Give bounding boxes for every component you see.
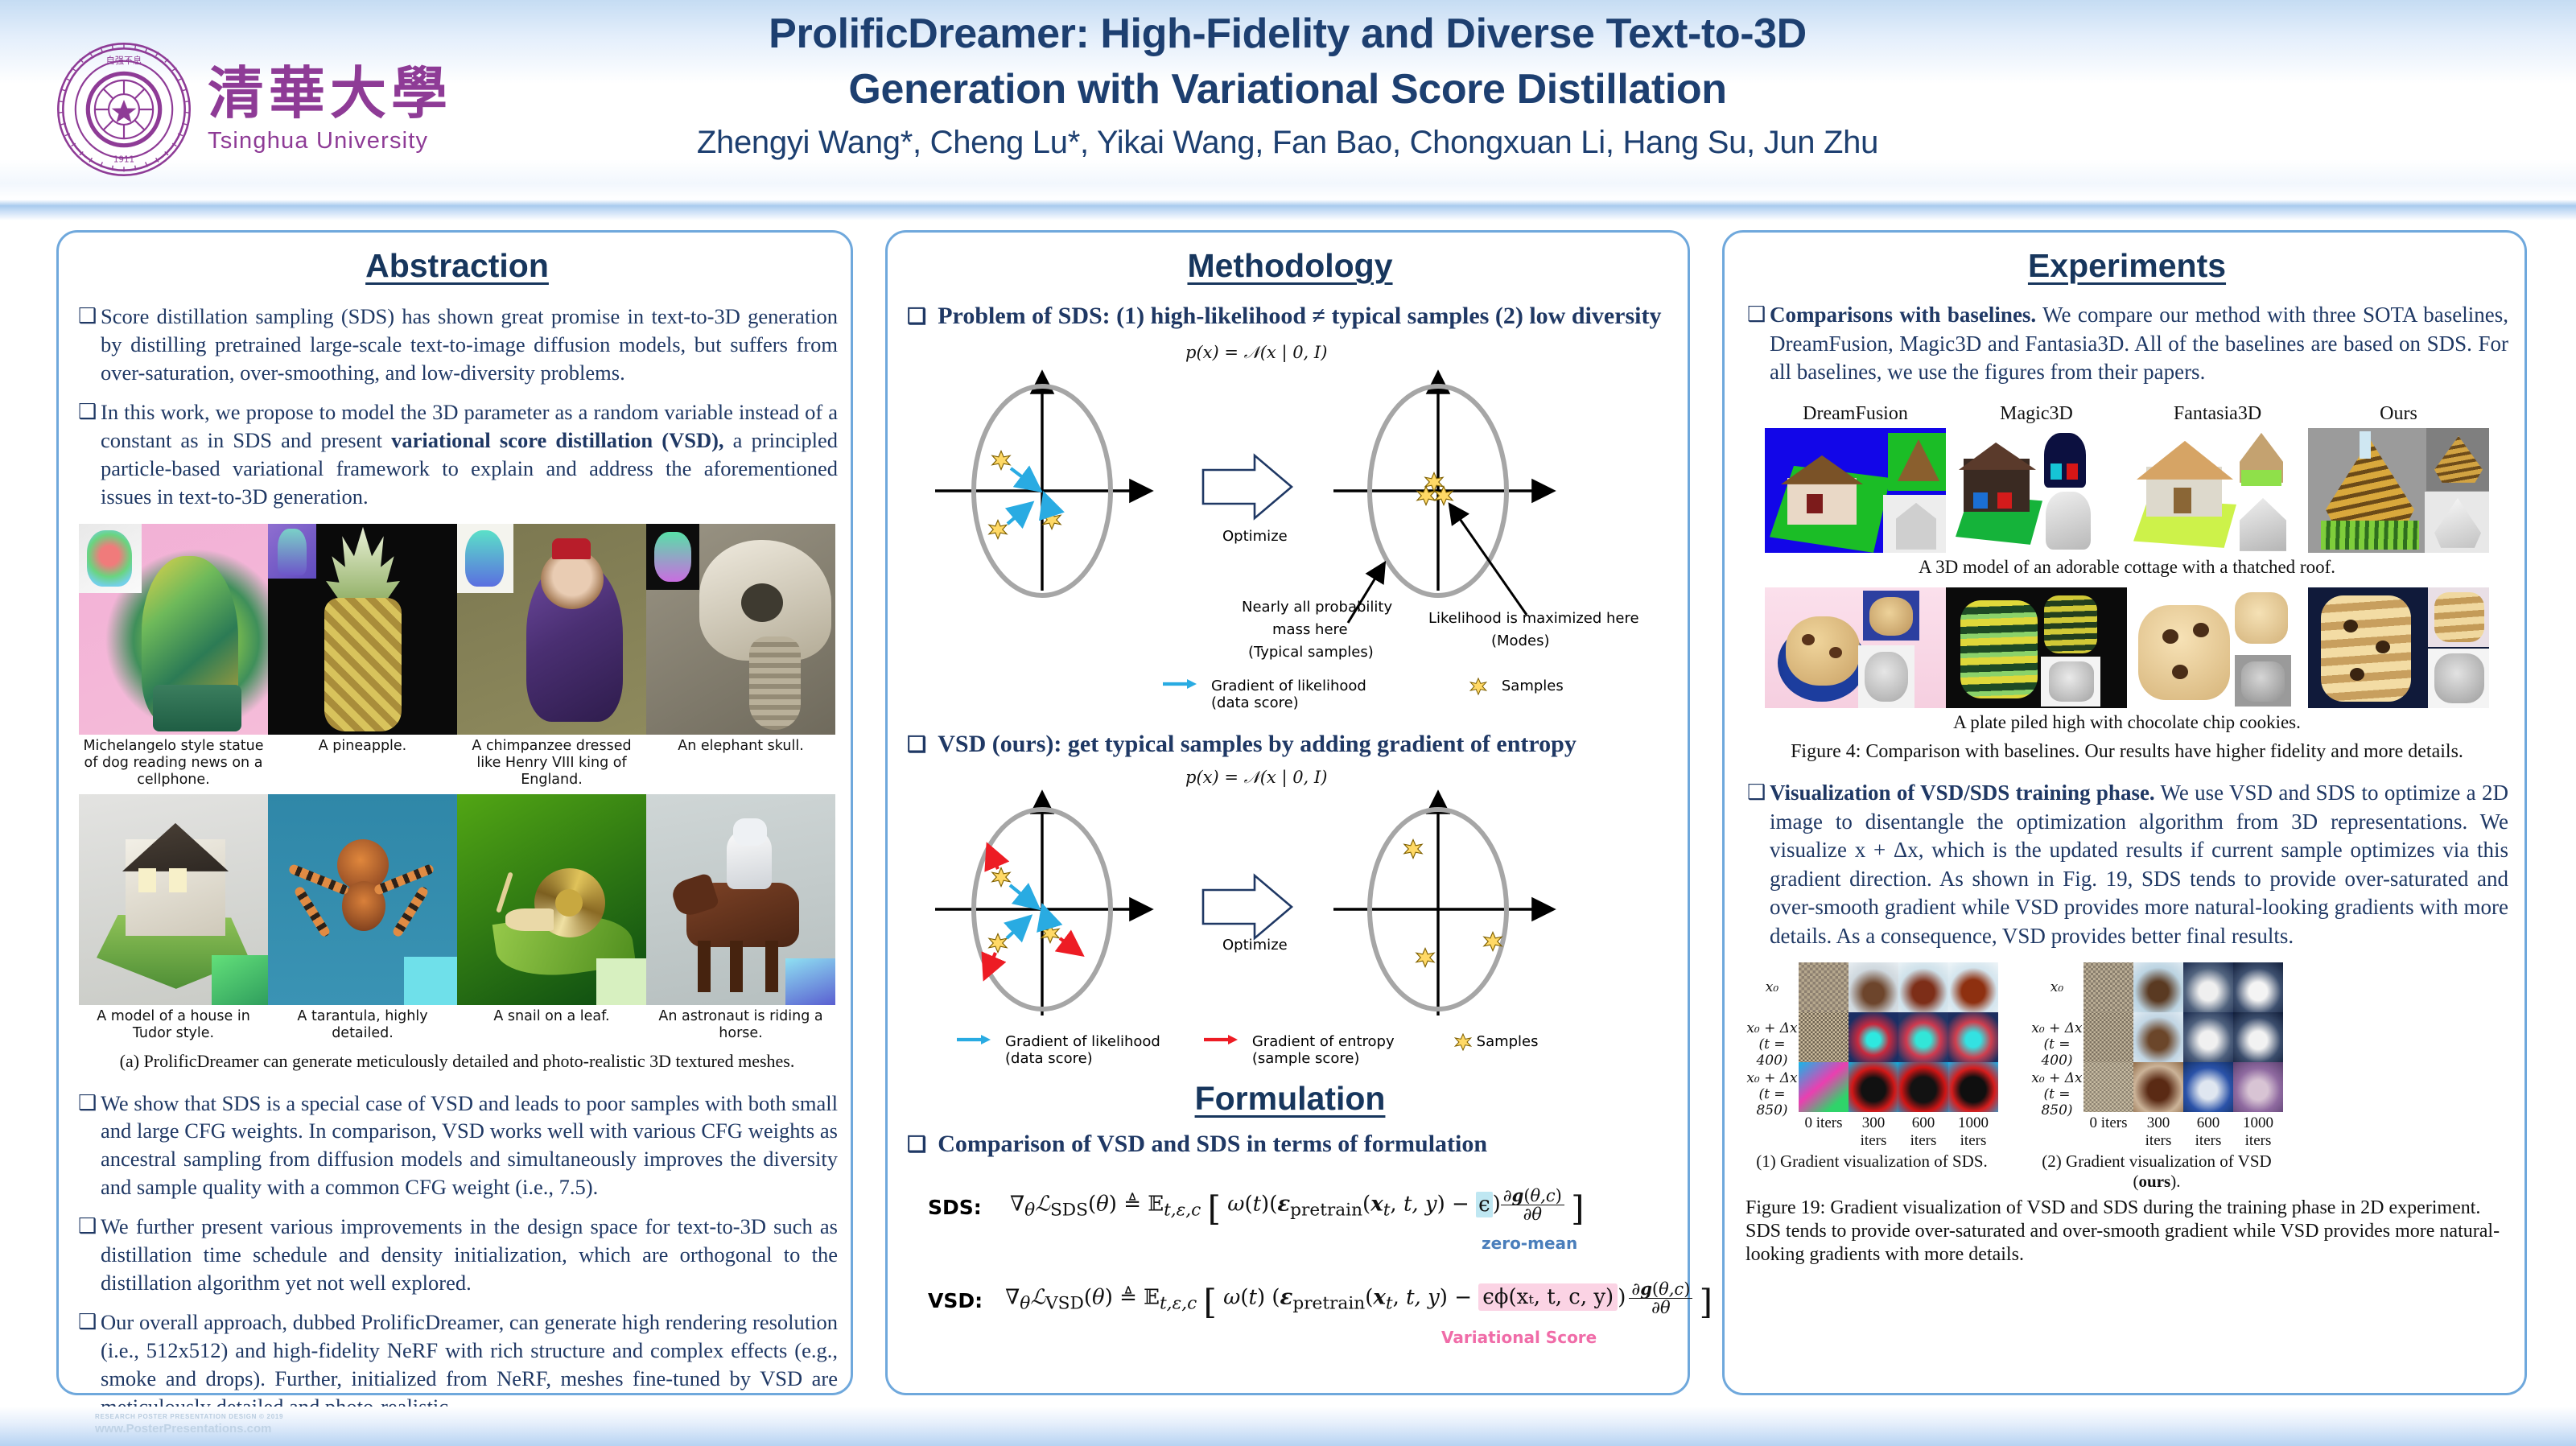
vsd-equation: ∇θℒVSD(θ) ≜ 𝔼t,ε,c [ ω(t) (εpretrain(xt,… <box>1005 1280 1713 1322</box>
gallery-caption: Michelangelo style statue of dog reading… <box>79 735 268 794</box>
gallery-caption: A snail on a leaf. <box>457 1005 646 1048</box>
formulation-heading-text: Comparison of VSD and SDS in terms of fo… <box>938 1131 1487 1158</box>
tsinghua-logo: 自强不息 1911 清華大學 Tsinghua University <box>55 29 473 190</box>
formulation-title: Formulation <box>907 1080 1673 1118</box>
figure-4-caption: Figure 4: Comparison with baselines. Our… <box>1745 741 2508 763</box>
cottage-caption: A 3D model of an adorable cottage with a… <box>1745 557 2508 578</box>
bullet-square-icon <box>76 303 101 387</box>
methodology-panel: Methodology ❑ Problem of SDS: (1) high-l… <box>885 230 1690 1395</box>
gallery-image-chimpanzee <box>457 524 646 735</box>
abstraction-bullet-4: We further present various improvements … <box>76 1213 838 1297</box>
bullet-square-icon: ❑ <box>907 732 926 757</box>
sds-annot-modes-1: Likelihood is maximized here <box>1428 610 1639 627</box>
gallery-caption: An elephant skull. <box>646 735 835 794</box>
footer-credit-line-1: RESEARCH POSTER PRESENTATION DESIGN © 20… <box>95 1413 283 1420</box>
poster-authors: Zhengyi Wang*, Cheng Lu*, Yikai Wang, Fa… <box>563 125 2012 161</box>
bullet-square-icon <box>76 1090 101 1202</box>
legend-likelihood-label: Gradient of likelihood (data score) <box>1005 1033 1160 1067</box>
legend-likelihood-arrow-icon <box>1161 678 1197 690</box>
fig19-sds-iter-0: 0 iters <box>1799 1114 1849 1150</box>
mesh-gallery: Michelangelo style statue of dog reading… <box>79 524 835 1072</box>
cookies-magic3d <box>1946 587 2127 708</box>
fig19-subcaption-vsd: (2) Gradient visualization of VSD (ours)… <box>2030 1151 2283 1192</box>
sds-annot-typical-1: Nearly all probability <box>1242 599 1392 616</box>
gallery-image-tarantula <box>268 794 457 1005</box>
baseline-column-ours: Ours <box>2308 403 2489 425</box>
poster-title-line-1: ProlificDreamer: High-Fidelity and Diver… <box>563 6 2012 62</box>
fig19-row-label-t400: x₀ + Δx (t = 400) <box>2030 1012 2083 1062</box>
sds-equation-note: zero-mean <box>1482 1234 1673 1253</box>
abstraction-bullet-2-text: In this work, we propose to model the 3D… <box>101 398 838 511</box>
fig19-row-label-x0: x₀ <box>1745 962 1799 1012</box>
abstraction-title: Abstraction <box>76 247 838 285</box>
tsinghua-seal-icon: 自强不息 1911 <box>55 40 193 179</box>
gallery-image-elephant-skull <box>646 524 835 735</box>
poster-footer <box>0 1407 2576 1446</box>
experiments-bullet-2-bold: Visualization of VSD/SDS training phase. <box>1770 781 2155 805</box>
abstraction-bullet-3-text: We show that SDS is a special case of VS… <box>101 1090 838 1202</box>
gallery-image-astronaut-horse <box>646 794 835 1005</box>
fig19-vsd-iter-600: 600 iters <box>2183 1114 2233 1150</box>
poster-title-line-2: Generation with Variational Score Distil… <box>563 62 2012 117</box>
sds-optimize-label: Optimize <box>1222 528 1288 545</box>
baseline-column-dreamfusion: DreamFusion <box>1765 403 1946 425</box>
methodology-vsd-heading-text: VSD (ours): get typical samples by addin… <box>938 731 1577 758</box>
abstraction-bullet-3: We show that SDS is a special case of VS… <box>76 1090 838 1202</box>
gallery-image-pineapple <box>268 524 457 735</box>
vsd-equation-note: Variational Score <box>1441 1328 1673 1347</box>
sds-diagram: p(x) = 𝒩(x | 0, I) <box>907 330 1671 668</box>
sds-equation-tag: SDS: <box>928 1196 987 1219</box>
cookies-comparison-row <box>1765 587 2489 708</box>
baseline-column-fantasia3d: Fantasia3D <box>2127 403 2308 425</box>
cookies-dreamfusion <box>1765 587 1946 708</box>
sds-annot-typical-3: (Typical samples) <box>1248 644 1374 661</box>
institution-cjk-name: 清華大學 <box>208 65 452 122</box>
bullet-square-icon <box>76 1308 101 1421</box>
gallery-row-1 <box>79 524 835 735</box>
gallery-caption: A pineapple. <box>268 735 457 794</box>
cookies-caption: A plate piled high with chocolate chip c… <box>1745 712 2508 733</box>
cookies-fantasia3d <box>2127 587 2308 708</box>
legend-samples-label: Samples <box>1502 678 1564 694</box>
bullet-square-icon <box>76 398 101 511</box>
fig19-sds-iter-300: 300 iters <box>1849 1114 1898 1150</box>
poster-title-block: ProlificDreamer: High-Fidelity and Diver… <box>563 6 2012 161</box>
cottage-dreamfusion <box>1765 428 1946 553</box>
gallery-image-tudor-house <box>79 794 268 1005</box>
sds-annot-modes-2: (Modes) <box>1491 632 1549 649</box>
baseline-column-magic3d: Magic3D <box>1946 403 2127 425</box>
bullet-square-icon <box>1745 301 1770 387</box>
experiments-bullet-1: Comparisons with baselines. We compare o… <box>1745 301 2508 387</box>
bullet-square-icon: ❑ <box>907 1132 926 1157</box>
cottage-magic3d <box>1946 428 2127 553</box>
footer-credit: RESEARCH POSTER PRESENTATION DESIGN © 20… <box>95 1413 283 1436</box>
formulation-heading: ❑ Comparison of VSD and SDS in terms of … <box>907 1131 1673 1158</box>
gallery-caption: A tarantula, highly detailed. <box>268 1005 457 1048</box>
gallery-caption: A model of a house in Tudor style. <box>79 1005 268 1048</box>
fig19-vsd-iter-300: 300 iters <box>2133 1114 2183 1150</box>
vsd-equation-row: VSD: ∇θℒVSD(θ) ≜ 𝔼t,ε,c [ ω(t) (εpretrai… <box>928 1280 1673 1322</box>
gallery-caption: A chimpanzee dressed like Henry VIII kin… <box>457 735 646 794</box>
gallery-image-snail <box>457 794 646 1005</box>
sds-highlight-epsilon: ϵ <box>1476 1192 1493 1217</box>
cookies-ours <box>2308 587 2489 708</box>
experiments-bullet-1-text: Comparisons with baselines. We compare o… <box>1770 301 2508 387</box>
experiments-bullet-1-bold: Comparisons with baselines. <box>1770 303 2036 327</box>
methodology-title: Methodology <box>907 247 1673 285</box>
gallery-image-dog-statue <box>79 524 268 735</box>
vsd-equation-tag: VSD: <box>928 1289 983 1312</box>
svg-text:自强不息: 自强不息 <box>106 55 142 66</box>
sds-legend: Gradient of likelihood (data score) Samp… <box>1161 678 1673 711</box>
sds-equation: ∇θℒSDS(θ) ≜ 𝔼t,ε,c [ ω(t)(εpretrain(xt, … <box>1010 1187 1585 1229</box>
figure-19-sds-block: x₀ x₀ + Δx (t = 400) x₀ + Δx (t = 850) <box>1745 962 1998 1192</box>
fig19-sds-iter-1000: 1000 iters <box>1948 1114 1998 1150</box>
vsd-optimize-label: Optimize <box>1222 937 1288 954</box>
vsd-diagram: p(x) = 𝒩(x | 0, I) <box>907 758 1671 1032</box>
fig19-sds-iter-600: 600 iters <box>1898 1114 1948 1150</box>
vsd-legend: Gradient of likelihood (data score) Grad… <box>955 1033 1673 1067</box>
experiments-bullet-2-rest: We use VSD and SDS to optimize a 2D imag… <box>1770 781 2508 948</box>
header-divider <box>0 200 2576 220</box>
methodology-sds-heading-text: Problem of SDS: (1) high-likelihood ≠ ty… <box>938 303 1661 330</box>
cottage-fantasia3d <box>2127 428 2308 553</box>
figure-19-vsd-block: x₀ x₀ + Δx (t = 400) x₀ + Δx (t = 850) <box>2030 962 2283 1192</box>
gallery-caption: An astronaut is riding a horse. <box>646 1005 835 1048</box>
methodology-vsd-heading: ❑ VSD (ours): get typical samples by add… <box>907 731 1673 758</box>
figure-19-caption: Figure 19: Gradient visualization of VSD… <box>1745 1197 2508 1267</box>
abstraction-bullet-5-text: Our overall approach, dubbed ProlificDre… <box>101 1308 838 1421</box>
institution-en-name: Tsinghua University <box>208 128 428 154</box>
figure-19: x₀ x₀ + Δx (t = 400) x₀ + Δx (t = 850) <box>1745 962 2508 1192</box>
abstraction-bullet-5: Our overall approach, dubbed ProlificDre… <box>76 1308 838 1421</box>
bullet-square-icon <box>1745 779 1770 951</box>
gallery-row-2-captions: A model of a house in Tudor style. A tar… <box>79 1005 835 1048</box>
gallery-row-1-captions: Michelangelo style statue of dog reading… <box>79 735 835 794</box>
fig19-row-label-t850: x₀ + Δx (t = 850) <box>2030 1062 2083 1112</box>
abstraction-bullet-4-text: We further present various improvements … <box>101 1213 838 1297</box>
abstraction-bullet-2: In this work, we propose to model the 3D… <box>76 398 838 511</box>
bullet-square-icon: ❑ <box>907 304 926 329</box>
tsinghua-wordmark: 清華大學 Tsinghua University <box>208 65 452 154</box>
footer-credit-line-2[interactable]: www.PosterPresentations.com <box>95 1422 283 1436</box>
vsd-bold-phrase: variational score distillation (VSD), <box>391 428 723 452</box>
abstraction-bullet-1: Score distillation sampling (SDS) has sh… <box>76 303 838 387</box>
fig19-row-label-t850: x₀ + Δx (t = 850) <box>1745 1062 1799 1112</box>
fig19-row-label-x0: x₀ <box>2030 962 2083 1012</box>
cottage-comparison-row <box>1765 428 2489 553</box>
bullet-square-icon <box>76 1213 101 1297</box>
cottage-ours <box>2308 428 2489 553</box>
fig19-vsd-image-grid <box>2083 962 2283 1112</box>
vsd-highlight-variational-score: ϵϕ(xₜ, t, c, y) <box>1478 1283 1618 1311</box>
methodology-sds-heading: ❑ Problem of SDS: (1) high-likelihood ≠ … <box>907 303 1673 330</box>
seal-year: 1911 <box>113 154 134 164</box>
fig19-vsd-iter-1000: 1000 iters <box>2233 1114 2283 1150</box>
fig19-vsd-iter-0: 0 iters <box>2083 1114 2133 1150</box>
fig19-row-label-t400: x₀ + Δx (t = 400) <box>1745 1012 1799 1062</box>
experiments-title: Experiments <box>1745 247 2508 285</box>
experiments-panel: Experiments Comparisons with baselines. … <box>1722 230 2527 1395</box>
fig19-subcaption-sds: (1) Gradient visualization of SDS. <box>1745 1151 1998 1172</box>
abstraction-panel: Abstraction Score distillation sampling … <box>56 230 853 1395</box>
gallery-row-2 <box>79 794 835 1005</box>
experiments-bullet-2-text: Visualization of VSD/SDS training phase.… <box>1770 779 2508 951</box>
experiments-bullet-2: Visualization of VSD/SDS training phase.… <box>1745 779 2508 951</box>
sds-annot-typical-2: mass here <box>1272 621 1348 638</box>
abstraction-bullet-1-text: Score distillation sampling (SDS) has sh… <box>101 303 838 387</box>
poster-header: 自强不息 1911 清華大學 Tsinghua University Proli… <box>0 0 2576 200</box>
baseline-column-headers: DreamFusion Magic3D Fantasia3D Ours <box>1765 403 2489 425</box>
sds-equation-row: SDS: ∇θℒSDS(θ) ≜ 𝔼t,ε,c [ ω(t)(εpretrain… <box>928 1187 1673 1229</box>
legend-entropy-label: Gradient of entropy (sample score) <box>1252 1033 1395 1067</box>
vsd-diagram-svg <box>907 781 1671 1038</box>
legend-likelihood-label: Gradient of likelihood (data score) <box>1211 678 1366 711</box>
fig19-sds-image-grid <box>1799 962 1998 1112</box>
legend-samples-star-icon <box>1469 678 1487 695</box>
abstraction-figure-caption: (a) ProlificDreamer can generate meticul… <box>79 1051 835 1072</box>
